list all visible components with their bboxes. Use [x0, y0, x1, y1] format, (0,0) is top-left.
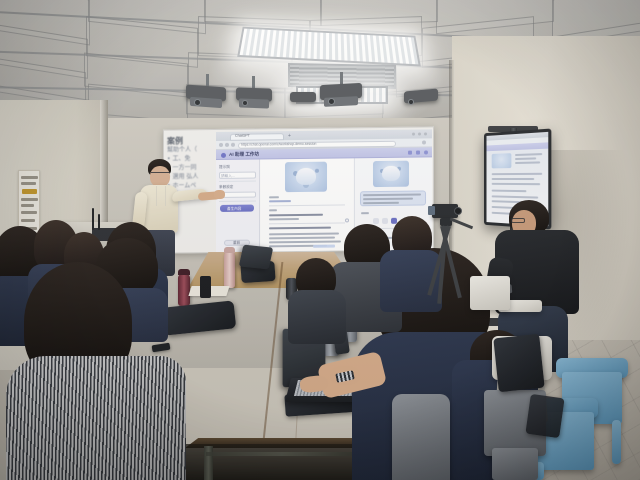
presenter-remote [200, 276, 211, 298]
browser-back-icon[interactable] [219, 143, 223, 147]
browser-menu-icon[interactable] [422, 140, 426, 144]
app-avatar-icon[interactable] [424, 150, 428, 154]
browser-new-tab-button[interactable]: + [288, 133, 291, 139]
floor-bag-2 [525, 394, 564, 438]
chair-behind-navy-attendee [392, 394, 450, 480]
chair-white-far [470, 276, 510, 310]
laptop-far-lid [239, 245, 273, 270]
browser-forward-icon[interactable] [225, 143, 229, 147]
operator-eyeglasses [511, 218, 525, 223]
app-help-icon[interactable] [408, 151, 412, 155]
projector-4-lens [408, 99, 414, 105]
projector-mount-bracket [290, 92, 316, 102]
striped-attendee-shoulder-shadow [6, 356, 186, 480]
presenter-head [150, 166, 170, 187]
table-stretcher [206, 452, 358, 456]
thumbs-down-icon[interactable] [382, 218, 388, 224]
app-settings-gear-icon[interactable] [416, 151, 420, 155]
browser-reload-icon[interactable] [231, 143, 235, 147]
reset-button-label: 重設 [233, 241, 240, 246]
center-scroll-handle[interactable] [345, 218, 349, 222]
maroon-water-bottle [178, 274, 190, 306]
camera-flip-screen [428, 206, 435, 215]
antenna [92, 208, 94, 230]
prompt-field-label: 提示詞 [219, 165, 230, 170]
app-title: AI 助理 工作坊 [229, 152, 259, 158]
generate-button-label: 產生內容 [227, 206, 241, 211]
prompt-input-value: 請輸入… [221, 174, 235, 179]
app-logo-icon [221, 152, 226, 157]
generated-image-1 [285, 162, 327, 193]
camera-lens [454, 207, 462, 215]
pink-thermos-bottle [224, 252, 235, 288]
photo-scene: 案例 幫助个人（ • 工、免 • 一方一同 • 選用 弘人 • ホームペ • 付… [0, 0, 640, 480]
antenna-2 [98, 214, 100, 230]
app-center-panel [261, 158, 353, 251]
browser-tab-title: ChatGPT [235, 134, 250, 138]
presenter-lanyard [156, 186, 166, 206]
generated-image-2 [373, 161, 409, 187]
thumbs-up-icon[interactable] [373, 218, 379, 224]
app-left-panel: 提示詞 請輸入… 參數設定 產生內容 重設 [216, 159, 260, 252]
floor-bag-1 [493, 334, 544, 393]
presenter-eyeglasses [151, 172, 170, 176]
presenter-hand [214, 190, 225, 199]
